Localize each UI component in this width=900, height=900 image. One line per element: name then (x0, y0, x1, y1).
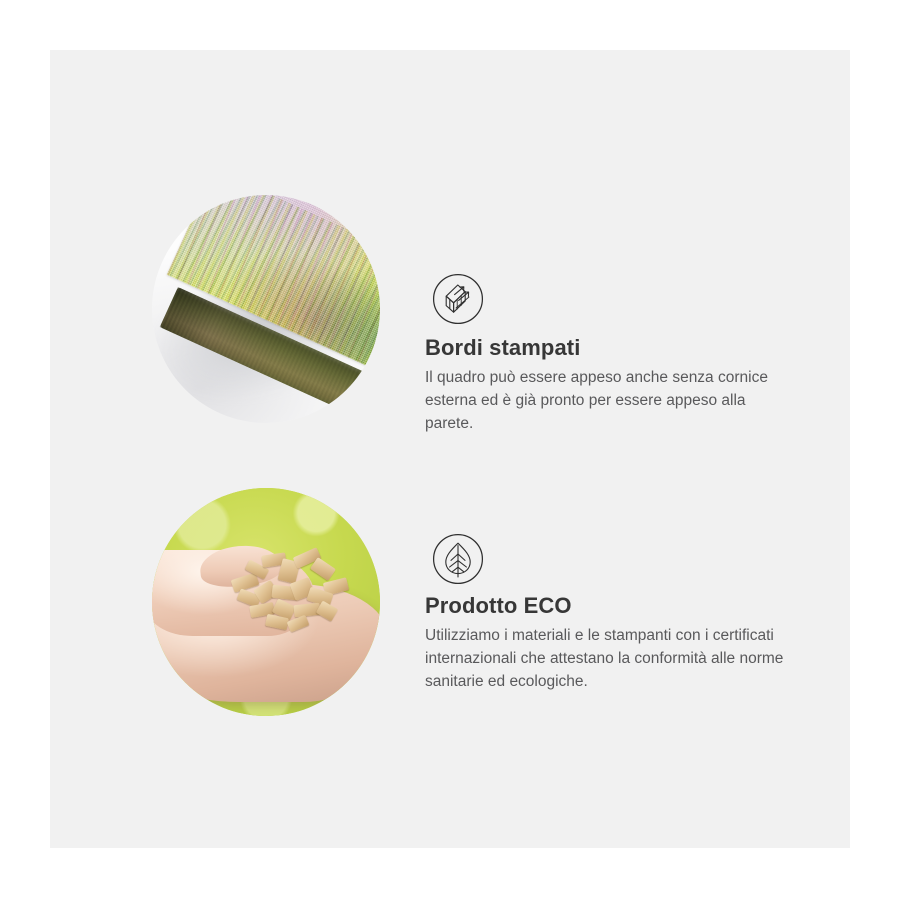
wood-chips-hands-photo (152, 488, 380, 716)
eco-product-description: Utilizziamo i materiali e le stampanti c… (425, 625, 791, 693)
content-panel: Bordi stampati Il quadro può essere appe… (50, 50, 850, 848)
feature-printed-edges: Bordi stampati Il quadro può essere appe… (50, 195, 850, 475)
product-info-page: Bordi stampati Il quadro può essere appe… (0, 0, 900, 900)
wood-chips-pile (228, 550, 360, 636)
canvas-photo-background (152, 195, 380, 423)
printed-edges-text: Bordi stampati Il quadro può essere appe… (425, 335, 825, 435)
canvas-corner-photo (152, 195, 380, 423)
printed-edges-description: Il quadro può essere appeso anche senza … (425, 367, 791, 435)
eco-product-text: Prodotto ECO Utilizziamo i materiali e l… (425, 593, 825, 693)
leaf-icon (432, 533, 484, 585)
feature-eco-product: Prodotto ECO Utilizziamo i materiali e l… (50, 475, 850, 755)
printed-edges-icon (432, 273, 484, 325)
eco-product-title: Prodotto ECO (425, 593, 825, 619)
wood-chip (310, 557, 336, 581)
printed-edges-title: Bordi stampati (425, 335, 825, 361)
